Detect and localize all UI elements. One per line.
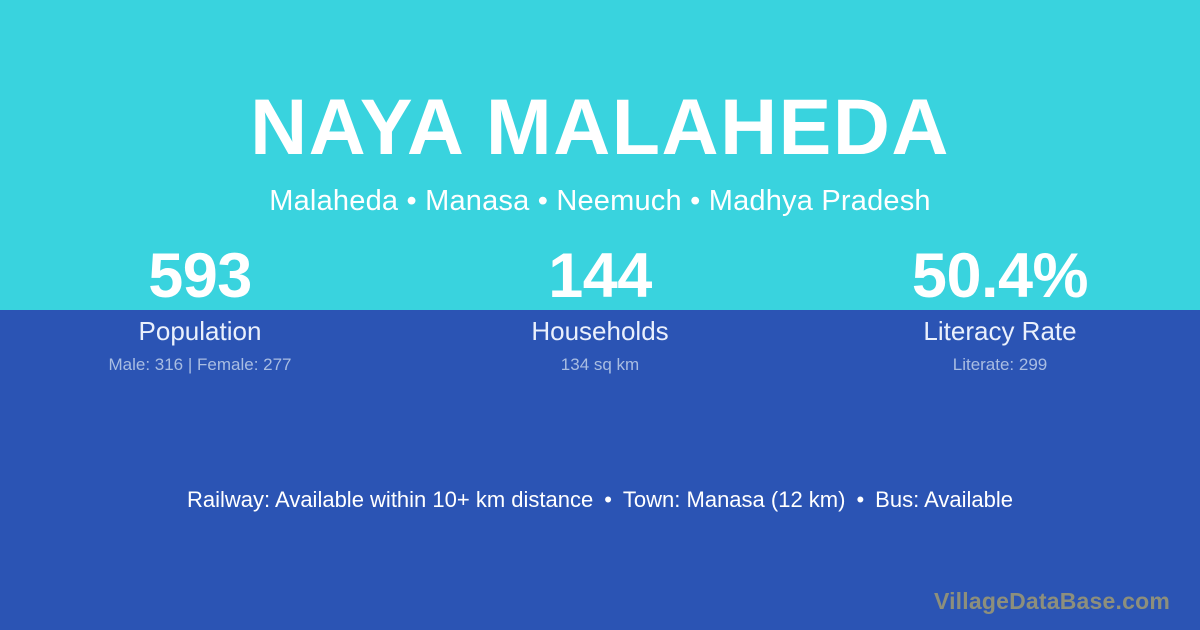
page-title: NAYA MALAHEDA: [0, 82, 1200, 172]
stat-label-population: Population: [0, 316, 400, 346]
village-info-card: NAYA MALAHEDA Malaheda • Manasa • Neemuc…: [0, 0, 1200, 630]
infra-separator-1: •: [593, 485, 623, 515]
infra-separator-2: •: [845, 485, 875, 515]
stat-population: 593 Population Male: 316 | Female: 277: [0, 240, 400, 375]
stat-sub-households: 134 sq km: [400, 355, 800, 375]
stat-value-literacy-rate: 50.4%: [800, 240, 1200, 312]
stat-sub-population: Male: 316 | Female: 277: [0, 355, 400, 375]
card-header: NAYA MALAHEDA Malaheda • Manasa • Neemuc…: [0, 0, 1200, 218]
stat-value-households: 144: [400, 240, 800, 312]
site-watermark: VillageDataBase.com: [934, 587, 1170, 615]
stat-label-literacy-rate: Literacy Rate: [800, 316, 1200, 346]
location-breadcrumb: Malaheda • Manasa • Neemuch • Madhya Pra…: [0, 184, 1200, 218]
stat-sub-literacy-rate: Literate: 299: [800, 355, 1200, 375]
infra-railway: Railway: Available within 10+ km distanc…: [187, 487, 593, 512]
infra-town: Town: Manasa (12 km): [623, 487, 846, 512]
stats-row: 593 Population Male: 316 | Female: 277 1…: [0, 240, 1200, 375]
infrastructure-line: Railway: Available within 10+ km distanc…: [0, 485, 1200, 515]
stat-label-households: Households: [400, 316, 800, 346]
infra-bus: Bus: Available: [875, 487, 1013, 512]
stat-literacy-rate: 50.4% Literacy Rate Literate: 299: [800, 240, 1200, 375]
stat-households: 144 Households 134 sq km: [400, 240, 800, 375]
stat-value-population: 593: [0, 240, 400, 312]
